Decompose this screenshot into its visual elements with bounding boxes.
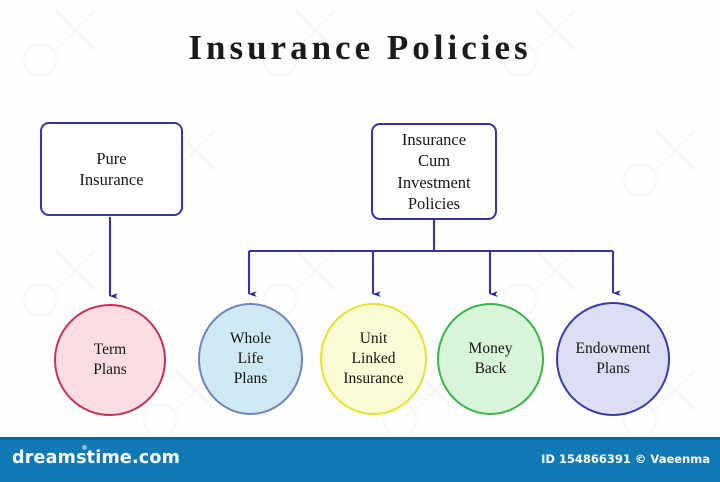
page-title: Insurance Policies	[0, 28, 720, 68]
image-id-credit: ID 154866391 © Vaeenma	[541, 452, 710, 466]
node-insurance-cum-investment[interactable]: Insurance Cum Investment Policies	[371, 123, 497, 220]
node-endowment-plans[interactable]: Endowment Plans	[556, 302, 670, 416]
node-whole-life-plans-label: Whole Life Plans	[228, 329, 273, 389]
node-insurance-cum-investment-label: Insurance Cum Investment Policies	[393, 129, 474, 213]
node-unit-linked-insurance-label: Unit Linked Insurance	[341, 329, 405, 389]
logo-dot-icon	[82, 445, 87, 450]
dreamstime-logo[interactable]: dreamstime.com	[12, 448, 180, 468]
diagram-canvas: Insurance Policies Pure Insurance Insura…	[0, 0, 720, 482]
node-pure-insurance-label: Pure Insurance	[75, 148, 147, 190]
node-money-back[interactable]: Money Back	[437, 303, 544, 415]
dreamstime-logo-text: dreamstime.com	[12, 448, 180, 468]
node-unit-linked-insurance[interactable]: Unit Linked Insurance	[320, 303, 427, 415]
node-money-back-label: Money Back	[467, 339, 515, 379]
stock-footer-bar: dreamstime.com ID 154866391 © Vaeenma	[0, 437, 720, 482]
node-term-plans-label: Term Plans	[91, 340, 129, 380]
node-whole-life-plans[interactable]: Whole Life Plans	[198, 303, 303, 415]
node-pure-insurance[interactable]: Pure Insurance	[40, 122, 183, 216]
node-term-plans[interactable]: Term Plans	[54, 304, 166, 416]
node-endowment-plans-label: Endowment Plans	[574, 339, 653, 379]
